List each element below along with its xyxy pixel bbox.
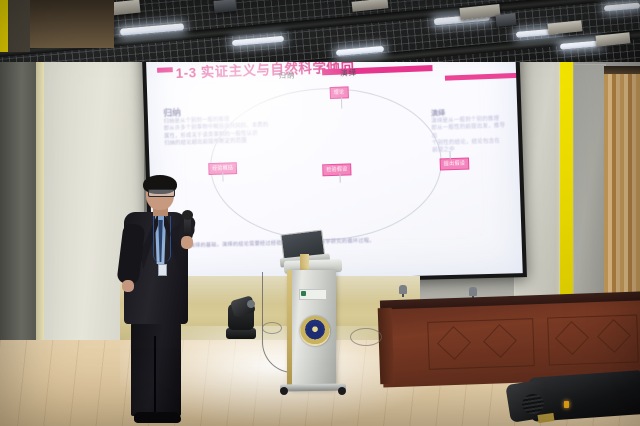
presenter-glasses-icon [148,189,175,197]
speaker-foot [538,413,555,423]
presenter-badge [158,264,167,276]
podium-gold-edge [287,270,292,388]
ceiling-fixture-5 [495,13,516,27]
university-crest-inner [307,323,323,339]
presenter-leg-split [154,336,156,412]
presenter-lanyard [153,216,171,262]
title-dash-right-2 [445,73,523,81]
desk-side-face [378,308,395,384]
ceiling-wood-panel [28,0,114,48]
ceiling-fixture-2 [213,0,236,13]
right-line-3: 前提之中 [432,145,511,155]
title-dash-left [157,67,173,73]
presenter-hand-left [122,280,134,292]
presenter-hand-right [181,236,193,249]
diagram-heading-deduction: 演绎 [340,67,357,79]
diagram-heading-induction: 归纳 [278,69,295,81]
podium-caster-left [280,387,288,395]
ceiling-dark-accent [8,0,30,52]
podium-label-mark [301,291,306,296]
moving-head-light-1 [222,298,262,342]
stage-curtain [604,74,640,312]
right-lead-word: 演绎 [431,110,445,118]
wall-yellow-stripe [560,62,573,310]
podium-foot-bar [280,383,346,391]
left-lead-word: 归纳 [163,108,181,119]
tick-hypothesis [449,151,450,159]
floor-cable-1 [350,328,382,346]
presenter-legs [131,320,181,416]
diagram-node-theory[interactable]: 理论 [330,86,349,99]
desk-microphone-1 [399,285,407,294]
presenter-person [118,176,206,426]
desk-microphone-2 [469,287,477,296]
lecture-hall-photo: 1-3 实证主义与自然科学倾向 归纳 归纳是从个别到一般的推理 即从许多个别事物… [0,0,640,426]
speaker-power-led [564,401,569,408]
floor-monitor-speaker [508,368,640,426]
wall-column-left [0,46,36,346]
wall-column-edge [36,50,44,348]
microphone-head-icon [182,210,193,220]
diagram-node-hypothesis[interactable]: 提出假设 [440,157,470,170]
diagram-node-test[interactable]: 检验假设 [322,163,352,176]
wall-panel-right-b [573,64,606,310]
podium-caster-right [338,387,346,395]
diagram-heading-arrow-icon: ← [316,70,323,76]
presenter-shoe-right [154,412,181,423]
floor-cable-2 [262,322,282,334]
lectern-podium[interactable] [282,232,344,394]
slide-right-text-block: 演绎 演绎是从一般到个别的推理 即从一般性的前提出发，推导出 个别性的结论，结论… [431,108,512,155]
